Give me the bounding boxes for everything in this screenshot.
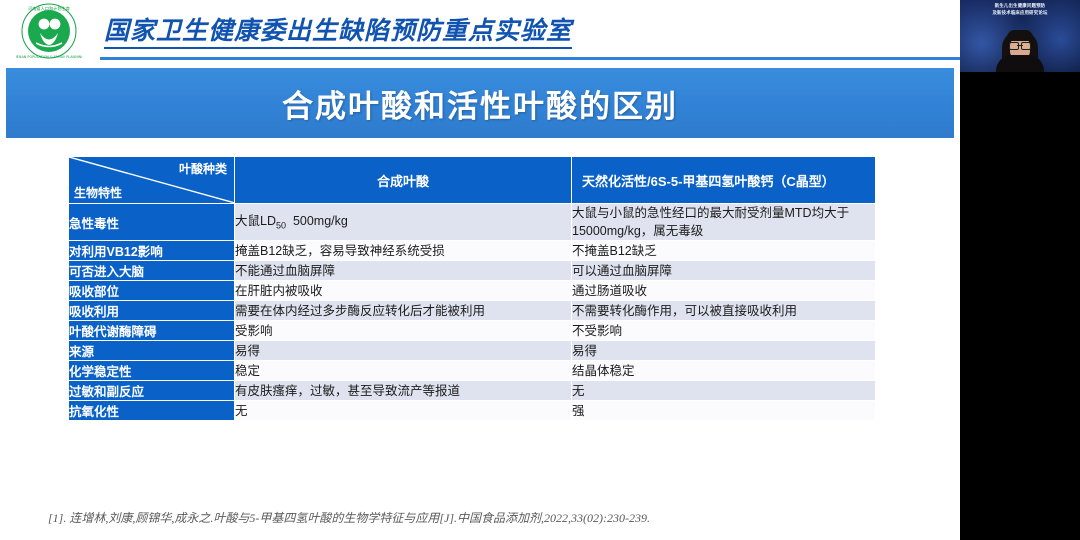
column-header-synthetic: 合成叶酸 [235, 157, 572, 204]
table-body: 急性毒性 大鼠LD50 500mg/kg 大鼠与小鼠的急性经口的最大耐受剂量MT… [69, 204, 876, 421]
glasses-icon [1009, 42, 1031, 48]
cell-synthetic: 易得 [235, 341, 572, 361]
corner-label-category: 叶酸种类 [179, 160, 227, 177]
row-label: 叶酸代谢酶障碍 [69, 321, 235, 341]
row-label: 吸收部位 [69, 281, 235, 301]
table-header-row: 叶酸种类 生物特性 合成叶酸 天然化活性/6S-5-甲基四氢叶酸钙（C晶型） [69, 157, 876, 204]
row-label: 急性毒性 [69, 204, 235, 241]
column-header-natural: 天然化活性/6S-5-甲基四氢叶酸钙（C晶型） [572, 157, 876, 204]
backdrop-banner-text: 新生儿出生健康问题预防 及新技术临床应用研究论坛 [960, 3, 1080, 17]
cell-natural: 不掩盖B12缺乏 [572, 241, 876, 261]
table-row: 吸收利用 需要在体内经过多步酶反应转化后才能被利用 不需要转化酶作用，可以被直接… [69, 301, 876, 321]
corner-label-property: 生物特性 [74, 184, 122, 201]
table-row: 叶酸代谢酶障碍 受影响 不受影响 [69, 321, 876, 341]
table-row: 过敏和副反应 有皮肤瘙痒，过敏，甚至导致流产等报道 无 [69, 381, 876, 401]
row-label: 抗氧化性 [69, 401, 235, 421]
video-panel: 新生儿出生健康问题预防 及新技术临床应用研究论坛 [960, 0, 1080, 540]
backdrop-line-1: 新生儿出生健康问题预防 [960, 3, 1080, 10]
cell-natural: 强 [572, 401, 876, 421]
table-row: 抗氧化性 无 强 [69, 401, 876, 421]
backdrop-line-2: 及新技术临床应用研究论坛 [960, 10, 1080, 17]
screen-root: 河南省人口和计划生育 HENAN POPULATION & FAMILY PLA… [0, 0, 1080, 540]
cell-synthetic: 掩盖B12缺乏，容易导致神经系统受损 [235, 241, 572, 261]
cell-natural: 结晶体稳定 [572, 361, 876, 381]
fringe-icon [1007, 30, 1033, 41]
row-label: 来源 [69, 341, 235, 361]
svg-text:河南省人口和计划生育: 河南省人口和计划生育 [28, 5, 70, 12]
table-row: 来源 易得 易得 [69, 341, 876, 361]
cell-natural: 不需要转化酶作用，可以被直接吸收利用 [572, 301, 876, 321]
slide-title-banner: 合成叶酸和活性叶酸的区别 [6, 68, 954, 138]
row-label: 过敏和副反应 [69, 381, 235, 401]
slide-title: 合成叶酸和活性叶酸的区别 [282, 81, 678, 126]
folate-comparison-table: 叶酸种类 生物特性 合成叶酸 天然化活性/6S-5-甲基四氢叶酸钙（C晶型） 急… [68, 156, 876, 421]
ld50-value: 大鼠LD50 500mg/kg [235, 214, 348, 228]
cell-synthetic: 大鼠LD50 500mg/kg [235, 204, 572, 241]
row-label: 化学稳定性 [69, 361, 235, 381]
table-row: 吸收部位 在肝脏内被吸收 通过肠道吸收 [69, 281, 876, 301]
header-divider [100, 57, 960, 60]
speaker-avatar [994, 26, 1046, 72]
lab-title: 国家卫生健康委出生缺陷预防重点实验室 [104, 16, 572, 49]
institute-logo-icon: 河南省人口和计划生育 HENAN POPULATION & FAMILY PLA… [16, 2, 82, 62]
table-row: 急性毒性 大鼠LD50 500mg/kg 大鼠与小鼠的急性经口的最大耐受剂量MT… [69, 204, 876, 241]
cell-natural: 无 [572, 381, 876, 401]
table-row: 可否进入大脑 不能通过血脑屏障 可以通过血脑屏障 [69, 261, 876, 281]
row-label: 对利用VB12影响 [69, 241, 235, 261]
cell-synthetic: 不能通过血脑屏障 [235, 261, 572, 281]
cell-natural: 通过肠道吸收 [572, 281, 876, 301]
cell-synthetic: 受影响 [235, 321, 572, 341]
row-label: 吸收利用 [69, 301, 235, 321]
cell-natural: 大鼠与小鼠的急性经口的最大耐受剂量MTD均大于15000mg/kg，属无毒级 [572, 204, 876, 241]
presentation-slide: 河南省人口和计划生育 HENAN POPULATION & FAMILY PLA… [0, 0, 960, 540]
svg-text:HENAN POPULATION & FAMILY PLAN: HENAN POPULATION & FAMILY PLANNING [16, 55, 82, 59]
slide-header: 河南省人口和计划生育 HENAN POPULATION & FAMILY PLA… [0, 0, 960, 62]
cell-natural: 可以通过血脑屏障 [572, 261, 876, 281]
table-corner-cell: 叶酸种类 生物特性 [69, 157, 235, 204]
torso-icon [996, 55, 1044, 72]
speaker-video-tile[interactable]: 新生儿出生健康问题预防 及新技术临床应用研究论坛 [960, 0, 1080, 72]
video-panel-empty-area [960, 72, 1080, 540]
cell-synthetic: 无 [235, 401, 572, 421]
cell-synthetic: 需要在体内经过多步酶反应转化后才能被利用 [235, 301, 572, 321]
row-label: 可否进入大脑 [69, 261, 235, 281]
cell-natural: 不受影响 [572, 321, 876, 341]
table-row: 化学稳定性 稳定 结晶体稳定 [69, 361, 876, 381]
comparison-table-wrapper: 叶酸种类 生物特性 合成叶酸 天然化活性/6S-5-甲基四氢叶酸钙（C晶型） 急… [68, 156, 875, 421]
cell-synthetic: 有皮肤瘙痒，过敏，甚至导致流产等报道 [235, 381, 572, 401]
cell-synthetic: 在肝脏内被吸收 [235, 281, 572, 301]
citation-footnote: [1]. 连增林,刘康,顾锦华,成永之.叶酸与5-甲基四氢叶酸的生物学特征与应用… [48, 509, 928, 526]
cell-synthetic: 稳定 [235, 361, 572, 381]
table-row: 对利用VB12影响 掩盖B12缺乏，容易导致神经系统受损 不掩盖B12缺乏 [69, 241, 876, 261]
cell-natural: 易得 [572, 341, 876, 361]
